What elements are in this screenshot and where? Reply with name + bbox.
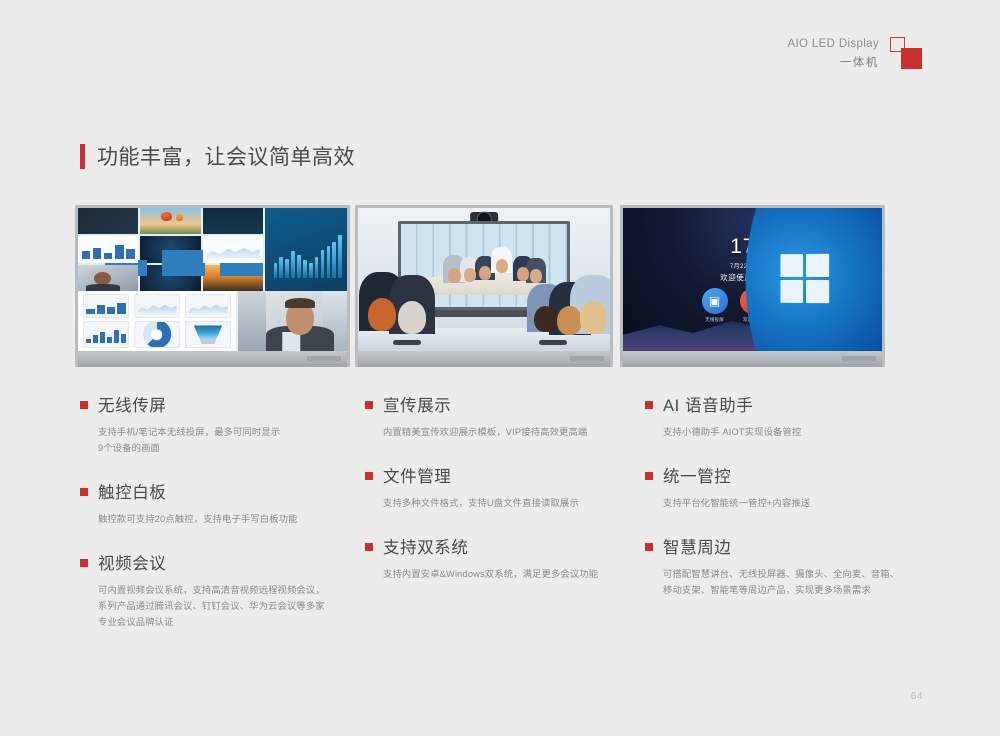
feature-item: 宣传展示 内置精美宣传欢迎展示模板，VIP接待高效更高端 [365, 392, 643, 441]
local-participant [580, 301, 608, 334]
feature-item: 统一管控 支持平台化智能统一管控+内容推送 [645, 463, 923, 512]
feature-column-1: 无线传屏 支持手机/笔记本无线投屏，最多可同时显示 9个设备的画面 触控白板 触… [80, 392, 358, 653]
brand-name-en: AIO LED Display [787, 36, 879, 53]
feature-heading: AI 语音助手 [645, 392, 923, 416]
remote-participant [464, 268, 476, 282]
title-accent-bar [80, 144, 85, 169]
tile-presenter-video [238, 291, 347, 351]
feature-title: AI 语音助手 [663, 392, 753, 416]
image-multi-window-dashboard-display [75, 205, 350, 367]
feature-item: 支持双系统 支持内置安卓&Windows双系统，满足更多会议功能 [365, 534, 643, 583]
feature-title: 支持双系统 [383, 534, 469, 558]
app-shortcut-wireless-cast[interactable]: ▣ 无线投屏 [702, 288, 728, 323]
remote-participant [530, 269, 542, 283]
tile-white-dashboard-b [203, 236, 263, 262]
feature-title: 统一管控 [663, 463, 731, 487]
video-background-left [238, 291, 266, 351]
feature-heading: 视频会议 [80, 550, 358, 574]
feature-item: 智慧周边 可搭配智慧讲台、无线投屏器、摄像头、全向麦、音箱、 移动支架、智能笔等… [645, 534, 923, 599]
dual-system-screen: 17:0 7月22日 星期四 欢迎使用智能会议 ▣ 无线投屏 ♛ 欢迎界面 [623, 208, 882, 351]
feature-description: 触控款可支持20点触控，支持电子手写白板功能 [98, 512, 358, 528]
feature-description: 支持手机/笔记本无线投屏，最多可同时显示 9个设备的画面 [98, 425, 358, 457]
microphone-icon [539, 340, 567, 346]
page-number: 64 [911, 691, 923, 702]
tile-person-video [78, 265, 138, 291]
windows-desktop [737, 208, 882, 351]
bi-card [185, 294, 232, 318]
bullet-square-icon [365, 472, 373, 480]
feature-column-2: 宣传展示 内置精美宣传欢迎展示模板，VIP接待高效更高端 文件管理 支持多种文件… [365, 392, 643, 653]
feature-description: 支持多种文件格式，支持U盘文件直接读取展示 [383, 496, 643, 512]
feature-title: 智慧周边 [663, 534, 731, 558]
feature-description: 内置精美宣传欢迎展示模板，VIP接待高效更高端 [383, 425, 643, 441]
tile-white-dashboard-a [78, 236, 138, 262]
bi-card [185, 321, 232, 348]
remote-participant [517, 267, 529, 281]
bullet-square-icon [80, 488, 88, 496]
feature-item: AI 语音助手 支持小德助手 AIOT实现设备管控 [645, 392, 923, 441]
page-title: 功能丰富，让会议简单高效 [97, 141, 355, 171]
feature-description: 支持内置安卓&Windows双系统，满足更多会议功能 [383, 567, 643, 583]
image-video-conference-room [355, 205, 613, 367]
bi-row-top [83, 294, 232, 318]
display-screen: 17:0 7月22日 星期四 欢迎使用智能会议 ▣ 无线投屏 ♛ 欢迎界面 [623, 208, 882, 351]
bi-card [134, 321, 181, 348]
tile-bar-report [203, 208, 263, 234]
brand-text: AIO LED Display 一体机 [787, 36, 879, 71]
tile-area-chart [207, 244, 260, 259]
bullet-square-icon [365, 401, 373, 409]
local-participant [557, 306, 582, 336]
feature-item: 文件管理 支持多种文件格式，支持U盘文件直接读取展示 [365, 463, 643, 512]
feature-title: 触控白板 [98, 479, 166, 503]
display-stand [78, 351, 347, 367]
brand-header: AIO LED Display 一体机 [787, 36, 922, 71]
feature-item: 无线传屏 支持手机/笔记本无线投屏，最多可同时显示 9个设备的画面 [80, 392, 358, 457]
feature-heading: 宣传展示 [365, 392, 643, 416]
feature-description: 支持平台化智能统一管控+内容推送 [663, 496, 923, 512]
bullet-square-icon [80, 559, 88, 567]
display-screen [358, 208, 610, 351]
feature-column-3: AI 语音助手 支持小德助手 AIOT实现设备管控 统一管控 支持平台化智能统一… [645, 392, 923, 653]
bi-card [83, 321, 130, 348]
feature-heading: 支持双系统 [365, 534, 643, 558]
image-dual-os-home-screen: 17:0 7月22日 星期四 欢迎使用智能会议 ▣ 无线投屏 ♛ 欢迎界面 [620, 205, 885, 367]
feature-title: 无线传屏 [98, 392, 166, 416]
app-label: 无线投屏 [702, 317, 728, 323]
brand-name-cn: 一体机 [787, 55, 879, 72]
feature-heading: 触控白板 [80, 479, 358, 503]
slide-page: AIO LED Display 一体机 功能丰富，让会议简单高效 [0, 0, 1000, 736]
feature-columns: 无线传屏 支持手机/笔记本无线投屏，最多可同时显示 9个设备的画面 触控白板 触… [80, 392, 940, 653]
feature-heading: 无线传屏 [80, 392, 358, 416]
remote-participant [448, 268, 461, 284]
feature-heading: 统一管控 [645, 463, 923, 487]
remote-participant [479, 266, 491, 280]
display-stand [623, 351, 882, 367]
tile-bi-dashboard [78, 291, 236, 351]
tile-bars [82, 243, 135, 259]
bi-row-bottom [83, 321, 232, 348]
bullet-square-icon [645, 543, 653, 551]
bi-card [83, 294, 130, 318]
bullet-square-icon [645, 401, 653, 409]
microphone-icon [393, 340, 421, 346]
analytics-bars [274, 230, 343, 278]
conference-room-scene [358, 208, 610, 351]
tile-balloon-photo [140, 208, 200, 234]
tile-dark-dashboard [78, 208, 138, 234]
presenter-hair [285, 298, 316, 308]
feature-description: 可搭配智慧讲台、无线投屏器、摄像头、全向麦、音箱、 移动支架、智能笔等周边产品，… [663, 567, 923, 599]
feature-heading: 文件管理 [365, 463, 643, 487]
bullet-square-icon [80, 401, 88, 409]
feature-item: 触控白板 触控款可支持20点触控，支持电子手写白板功能 [80, 479, 358, 528]
logo-square-solid-icon [901, 48, 922, 69]
feature-heading: 智慧周边 [645, 534, 923, 558]
brand-logo-icon [890, 37, 922, 69]
bullet-square-icon [365, 543, 373, 551]
product-image-row: 17:0 7月22日 星期四 欢迎使用智能会议 ▣ 无线投屏 ♛ 欢迎界面 [75, 205, 925, 370]
dashboard-bottom-row [78, 291, 347, 351]
windows-logo-icon [781, 253, 830, 303]
screen-cast-icon[interactable]: ▣ [702, 288, 728, 314]
feature-title: 视频会议 [98, 550, 166, 574]
remote-presenter [496, 259, 508, 274]
tile-large-analytics-chart [265, 208, 347, 291]
display-stand [358, 351, 610, 367]
dashboard-tile-grid [78, 208, 347, 291]
bi-card [134, 294, 181, 318]
bullet-square-icon [645, 472, 653, 480]
feature-item: 视频会议 可内置视频会议系统，支持高清音视频远程视频会议， 系列产品通过腾讯会议… [80, 550, 358, 631]
local-participant [398, 301, 426, 334]
local-participant [534, 306, 557, 333]
display-screen [78, 208, 347, 351]
feature-description: 可内置视频会议系统，支持高清音视频远程视频会议， 系列产品通过腾讯会议、钉钉会议… [98, 583, 358, 631]
local-participant [368, 298, 396, 331]
feature-description: 支持小德助手 AIOT实现设备管控 [663, 425, 923, 441]
feature-title: 宣传展示 [383, 392, 451, 416]
feature-title: 文件管理 [383, 463, 451, 487]
section-title: 功能丰富，让会议简单高效 [80, 141, 355, 171]
